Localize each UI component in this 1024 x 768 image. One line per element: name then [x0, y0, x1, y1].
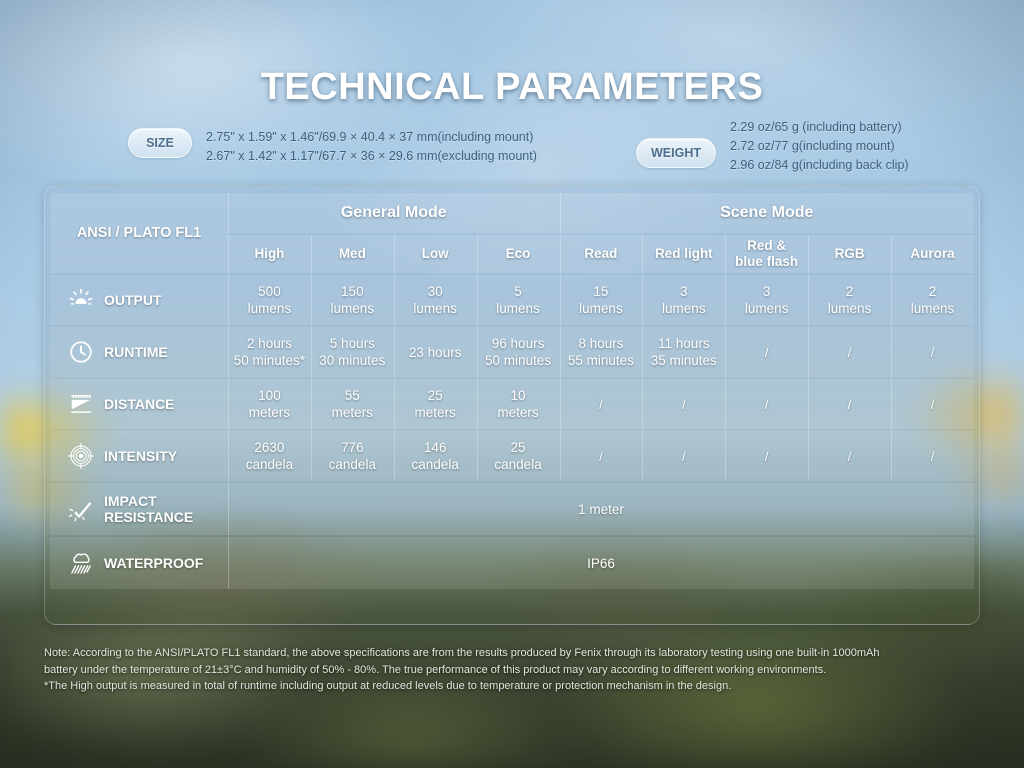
value-cell: / [560, 379, 643, 429]
row-label-text: WATERPROOF [104, 555, 203, 571]
value-cell: / [808, 431, 891, 481]
sunburst-icon [68, 287, 94, 313]
value-cell: 2lumens [808, 275, 891, 325]
row-label-output: OUTPUT [50, 275, 228, 325]
mode-header-med: Med [311, 235, 394, 273]
footnote-line-1: Note: According to the ANSI/PLATO FL1 st… [44, 645, 984, 662]
ansi-plato-header-cell: ANSI / PLATO FL1 [50, 193, 228, 273]
value-cell: 25meters [394, 379, 477, 429]
table-row: INTENSITY2630candela776candela146candela… [50, 431, 974, 481]
value-cell: 146candela [394, 431, 477, 481]
value-cell: 3lumens [642, 275, 725, 325]
merged-value-cell: IP66 [228, 537, 974, 589]
footnote-line-2: battery under the temperature of 21±3°C … [44, 662, 984, 679]
value-cell: / [891, 431, 974, 481]
size-line-2: 2.67" x 1.42" x 1.17"/67.7 × 36 × 29.6 m… [206, 147, 537, 166]
weight-line-2: 2.72 oz/77 g(including mount) [730, 137, 909, 156]
row-label-runtime: RUNTIME [50, 327, 228, 377]
table-row: DISTANCE100meters55meters25meters10meter… [50, 379, 974, 429]
value-cell: 5lumens [477, 275, 560, 325]
footnote: Note: According to the ANSI/PLATO FL1 st… [44, 645, 984, 695]
mode-group-header-scene: Scene Mode [560, 193, 975, 233]
specifications-table: ANSI / PLATO FL1General ModeScene ModeHi… [50, 191, 974, 591]
value-cell: 23 hours [394, 327, 477, 377]
value-cell: 55meters [311, 379, 394, 429]
mode-header-red-light: Red light [642, 235, 725, 273]
mode-header-read: Read [560, 235, 643, 273]
value-cell: 5 hours30 minutes [311, 327, 394, 377]
value-cell: 2 hours50 minutes* [228, 327, 311, 377]
mode-header-eco: Eco [477, 235, 560, 273]
value-cell: / [725, 327, 808, 377]
impact-resistance-icon [68, 496, 94, 522]
value-cell: / [891, 327, 974, 377]
value-cell: 150lumens [311, 275, 394, 325]
value-cell: / [725, 431, 808, 481]
table-row: WATERPROOFIP66 [50, 537, 974, 589]
clock-icon [68, 339, 94, 365]
mode-header-high: High [228, 235, 311, 273]
row-label-impact-resistance: IMPACTRESISTANCE [50, 483, 228, 535]
page-title: TECHNICAL PARAMETERS [0, 66, 1024, 109]
value-cell: 776candela [311, 431, 394, 481]
value-cell: 25candela [477, 431, 560, 481]
row-label-text: INTENSITY [104, 448, 177, 464]
value-cell: / [725, 379, 808, 429]
table-row: OUTPUT500lumens150lumens30lumens5lumens1… [50, 275, 974, 325]
value-cell: 3lumens [725, 275, 808, 325]
row-label-distance: DISTANCE [50, 379, 228, 429]
value-cell: 10meters [477, 379, 560, 429]
weight-line-3: 2.96 oz/84 g(including back clip) [730, 156, 909, 175]
technical-parameters-page: TECHNICAL PARAMETERS SIZE 2.75" x 1.59" … [0, 0, 1024, 768]
size-spec-lines: 2.75" x 1.59" x 1.46"/69.9 × 40.4 × 37 m… [206, 128, 537, 166]
value-cell: / [560, 431, 643, 481]
value-cell: / [808, 327, 891, 377]
value-cell: 30lumens [394, 275, 477, 325]
merged-value-cell: 1 meter [228, 483, 974, 535]
value-cell: / [808, 379, 891, 429]
value-cell: 2630candela [228, 431, 311, 481]
value-cell: 500lumens [228, 275, 311, 325]
mode-header-aurora: Aurora [891, 235, 974, 273]
weight-spec-lines: 2.29 oz/65 g (including battery) 2.72 oz… [730, 118, 909, 175]
table-row: IMPACTRESISTANCE1 meter [50, 483, 974, 535]
footnote-line-3: *The High output is measured in total of… [44, 678, 984, 695]
mode-header-rgb: RGB [808, 235, 891, 273]
mode-header-low: Low [394, 235, 477, 273]
size-spec-block: SIZE 2.75" x 1.59" x 1.46"/69.9 × 40.4 ×… [128, 128, 537, 166]
row-label-text: DISTANCE [104, 396, 175, 412]
target-intensity-icon [68, 443, 94, 469]
mode-header-red-blue-flash: Red &blue flash [725, 235, 808, 273]
specifications-panel: ANSI / PLATO FL1General ModeScene ModeHi… [44, 185, 980, 625]
beam-distance-icon [68, 391, 94, 417]
table-group-header-row: ANSI / PLATO FL1General ModeScene Mode [50, 193, 974, 233]
table-row: RUNTIME2 hours50 minutes*5 hours30 minut… [50, 327, 974, 377]
size-line-1: 2.75" x 1.59" x 1.46"/69.9 × 40.4 × 37 m… [206, 128, 537, 147]
value-cell: 96 hours50 minutes [477, 327, 560, 377]
rain-cloud-icon [68, 550, 94, 576]
value-cell: 15lumens [560, 275, 643, 325]
value-cell: / [891, 379, 974, 429]
value-cell: 2lumens [891, 275, 974, 325]
mode-group-header-general: General Mode [228, 193, 560, 233]
value-cell: 8 hours55 minutes [560, 327, 643, 377]
row-label-text: RUNTIME [104, 344, 168, 360]
value-cell: 11 hours35 minutes [642, 327, 725, 377]
row-label-text: OUTPUT [104, 292, 162, 308]
value-cell: 100meters [228, 379, 311, 429]
weight-badge: WEIGHT [636, 138, 716, 168]
row-label-intensity: INTENSITY [50, 431, 228, 481]
size-badge: SIZE [128, 128, 192, 158]
value-cell: / [642, 431, 725, 481]
weight-spec-block: WEIGHT 2.29 oz/65 g (including battery) … [636, 118, 909, 175]
row-label-waterproof: WATERPROOF [50, 537, 228, 589]
value-cell: / [642, 379, 725, 429]
weight-line-1: 2.29 oz/65 g (including battery) [730, 118, 909, 137]
row-label-text: IMPACTRESISTANCE [104, 493, 193, 525]
